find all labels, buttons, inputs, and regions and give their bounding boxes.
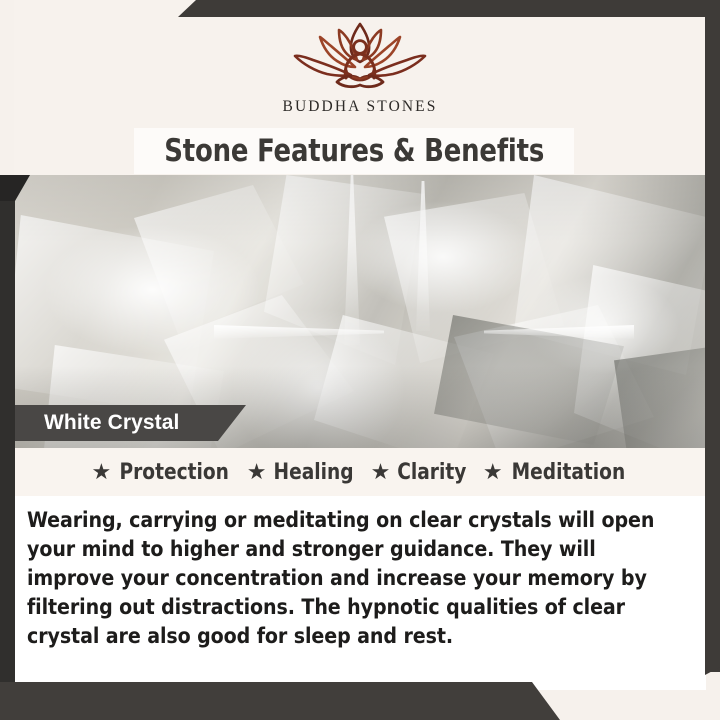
stone-name-label: White Crystal [14, 411, 180, 435]
description-area: Wearing, carrying or meditating on clear… [14, 496, 706, 690]
benefit-item-healing: ★ Healing [242, 460, 362, 485]
benefits-row: ★ Protection ★ Healing ★ Clarity ★ Medit… [14, 448, 706, 496]
stone-name-tag: White Crystal [14, 405, 246, 441]
benefit-item-protection: ★ Protection [87, 460, 238, 485]
frame-right-bar [705, 0, 720, 672]
white-crystal-cluster-photo: White Crystal [14, 175, 706, 448]
page-title-banner: Stone Features & Benefits [134, 128, 574, 174]
page-title: Stone Features & Benefits [164, 133, 544, 169]
benefit-label: Meditation [511, 460, 625, 485]
lotus-meditation-figure-icon [260, 20, 460, 94]
star-icon: ★ [483, 461, 503, 483]
description-text: Wearing, carrying or meditating on clear… [27, 506, 678, 651]
frame-bottom-bar [0, 682, 560, 720]
star-icon: ★ [371, 461, 391, 483]
info-card: BUDDHA STONES White Crystal ★ Protection [14, 0, 706, 690]
star-icon: ★ [92, 461, 112, 483]
star-icon: ★ [247, 461, 267, 483]
frame-right-tip [705, 655, 720, 675]
benefit-label: Clarity [398, 460, 467, 485]
benefit-item-meditation: ★ Meditation [478, 460, 634, 485]
brand-name: BUDDHA STONES [283, 98, 438, 116]
benefit-label: Healing [274, 460, 354, 485]
benefit-label: Protection [120, 460, 229, 485]
frame-left-bar [0, 175, 15, 683]
benefit-item-clarity: ★ Clarity [366, 460, 474, 485]
